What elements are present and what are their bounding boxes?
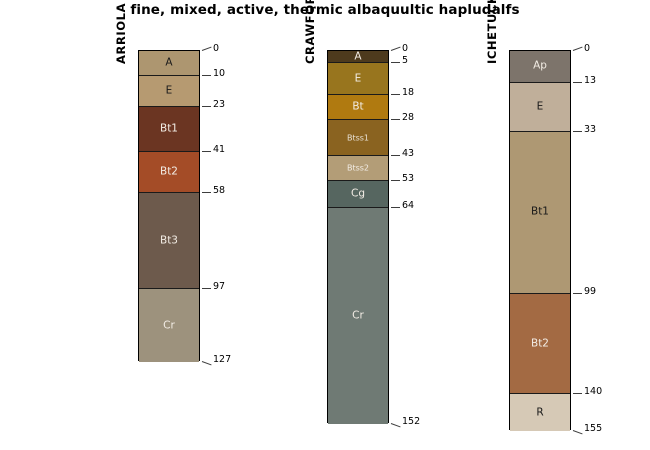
depth-tick bbox=[202, 151, 211, 152]
depth-tick bbox=[391, 180, 400, 181]
depth-value-label: 155 bbox=[584, 424, 602, 434]
depth-value-label: 10 bbox=[213, 69, 225, 79]
depth-tick bbox=[202, 288, 211, 289]
horizon-label: Cg bbox=[328, 188, 388, 199]
page-title: fine, mixed, active, thermic albaquultic… bbox=[0, 2, 650, 18]
soil-profile-plot: fine, mixed, active, thermic albaquultic… bbox=[0, 0, 650, 450]
horizon-label: Bt1 bbox=[139, 123, 199, 134]
soil-horizon: Bt1 bbox=[139, 107, 199, 151]
soil-horizon: E bbox=[510, 83, 570, 132]
depth-tick bbox=[202, 47, 212, 51]
depth-value-label: 18 bbox=[402, 88, 414, 98]
depth-tick bbox=[202, 75, 211, 76]
horizon-label: Bt1 bbox=[510, 207, 570, 218]
depth-tick bbox=[391, 62, 400, 63]
soil-horizon: Bt1 bbox=[510, 132, 570, 294]
depth-value-label: 53 bbox=[402, 174, 414, 184]
soil-horizon: E bbox=[328, 63, 388, 95]
depth-value-label: 127 bbox=[213, 355, 231, 365]
soil-horizon: Btss2 bbox=[328, 156, 388, 181]
depth-tick bbox=[391, 155, 400, 156]
horizon-label: A bbox=[328, 51, 388, 62]
soil-horizon: Cr bbox=[139, 289, 199, 363]
depth-tick bbox=[573, 47, 583, 51]
depth-value-label: 28 bbox=[402, 113, 414, 123]
soil-horizon: Bt3 bbox=[139, 193, 199, 289]
soil-horizon: Ap bbox=[510, 51, 570, 83]
depth-tick bbox=[391, 423, 401, 427]
soil-column: AEBt1Bt2Bt3Cr bbox=[138, 50, 200, 361]
depth-value-label: 13 bbox=[584, 76, 596, 86]
depth-tick bbox=[573, 393, 582, 394]
depth-tick bbox=[391, 94, 400, 95]
depth-value-label: 97 bbox=[213, 282, 225, 292]
depth-value-label: 152 bbox=[402, 417, 420, 427]
soil-horizon: R bbox=[510, 394, 570, 431]
horizon-label: Bt2 bbox=[139, 166, 199, 177]
horizon-label: Ap bbox=[510, 61, 570, 72]
depth-value-label: 23 bbox=[213, 100, 225, 110]
depth-tick bbox=[391, 47, 401, 51]
depth-value-label: 0 bbox=[584, 44, 590, 54]
horizon-label: E bbox=[139, 85, 199, 96]
depth-value-label: 41 bbox=[213, 145, 225, 155]
depth-tick bbox=[391, 119, 400, 120]
depth-value-label: 0 bbox=[402, 44, 408, 54]
depth-tick bbox=[391, 207, 400, 208]
horizon-label: E bbox=[328, 73, 388, 84]
profile-name-label: CRAWFORDVILLE bbox=[303, 0, 317, 64]
soil-horizon: Cr bbox=[328, 208, 388, 424]
horizon-label: Btss1 bbox=[328, 133, 388, 142]
soil-horizon: E bbox=[139, 76, 199, 108]
soil-horizon: Btss1 bbox=[328, 120, 388, 157]
profile-name-label: ICHETUCKNEE bbox=[485, 0, 499, 64]
depth-tick bbox=[202, 361, 212, 365]
soil-horizon: Bt2 bbox=[510, 294, 570, 395]
soil-column: AEBtBtss1Btss2CgCr bbox=[327, 50, 389, 423]
horizon-label: Bt bbox=[328, 101, 388, 112]
depth-tick bbox=[573, 82, 582, 83]
depth-tick bbox=[202, 106, 211, 107]
profile-name-label: ARRIOLA bbox=[114, 3, 128, 64]
horizon-label: E bbox=[510, 101, 570, 112]
soil-horizon: Bt bbox=[328, 95, 388, 120]
depth-value-label: 58 bbox=[213, 186, 225, 196]
horizon-label: Bt2 bbox=[510, 338, 570, 349]
horizon-label: A bbox=[139, 57, 199, 68]
depth-value-label: 140 bbox=[584, 387, 602, 397]
depth-value-label: 33 bbox=[584, 125, 596, 135]
horizon-label: Cr bbox=[139, 320, 199, 331]
horizon-label: R bbox=[510, 407, 570, 418]
soil-horizon: A bbox=[328, 51, 388, 63]
soil-horizon: A bbox=[139, 51, 199, 76]
depth-value-label: 43 bbox=[402, 149, 414, 159]
depth-value-label: 5 bbox=[402, 56, 408, 66]
soil-column: ApEBt1Bt2R bbox=[509, 50, 571, 430]
horizon-label: Cr bbox=[328, 310, 388, 321]
soil-horizon: Bt2 bbox=[139, 152, 199, 194]
depth-value-label: 64 bbox=[402, 201, 414, 211]
depth-tick bbox=[202, 192, 211, 193]
depth-tick bbox=[573, 430, 583, 434]
horizon-label: Btss2 bbox=[328, 164, 388, 173]
depth-tick bbox=[573, 293, 582, 294]
horizon-label: Bt3 bbox=[139, 235, 199, 246]
depth-value-label: 99 bbox=[584, 287, 596, 297]
depth-tick bbox=[573, 131, 582, 132]
depth-value-label: 0 bbox=[213, 44, 219, 54]
soil-horizon: Cg bbox=[328, 181, 388, 208]
